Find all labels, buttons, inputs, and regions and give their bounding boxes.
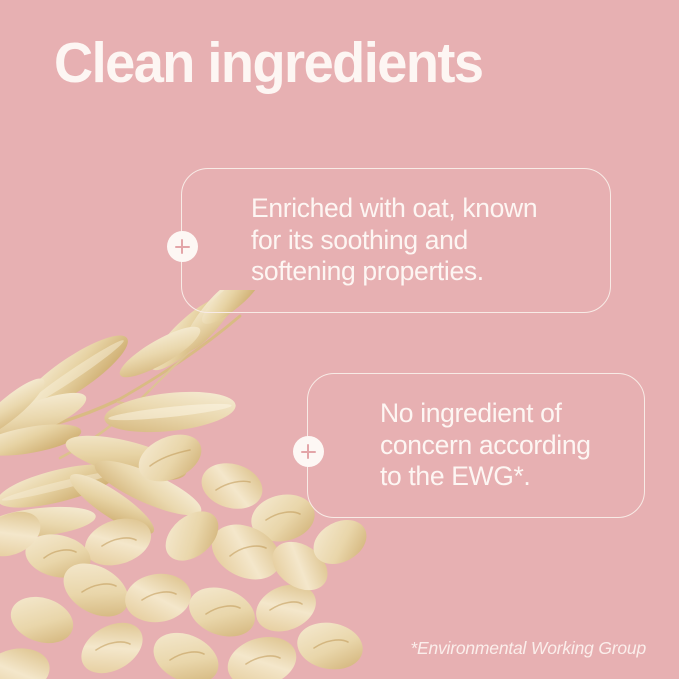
infographic-canvas: Clean ingredients Enriched with oat, kno…	[0, 0, 679, 679]
plus-icon	[293, 436, 324, 467]
feature-card-ewg[interactable]: No ingredient of concern according to th…	[307, 373, 645, 518]
feature-card-oat[interactable]: Enriched with oat, known for its soothin…	[181, 168, 611, 313]
footnote: *Environmental Working Group	[390, 638, 646, 659]
oat-stems	[0, 306, 240, 458]
oat-spikelets	[0, 290, 268, 543]
page-title: Clean ingredients	[54, 34, 483, 94]
feature-card-text: No ingredient of concern according to th…	[380, 398, 640, 493]
plus-icon	[167, 231, 198, 262]
feature-card-text: Enriched with oat, known for its soothin…	[251, 193, 601, 288]
